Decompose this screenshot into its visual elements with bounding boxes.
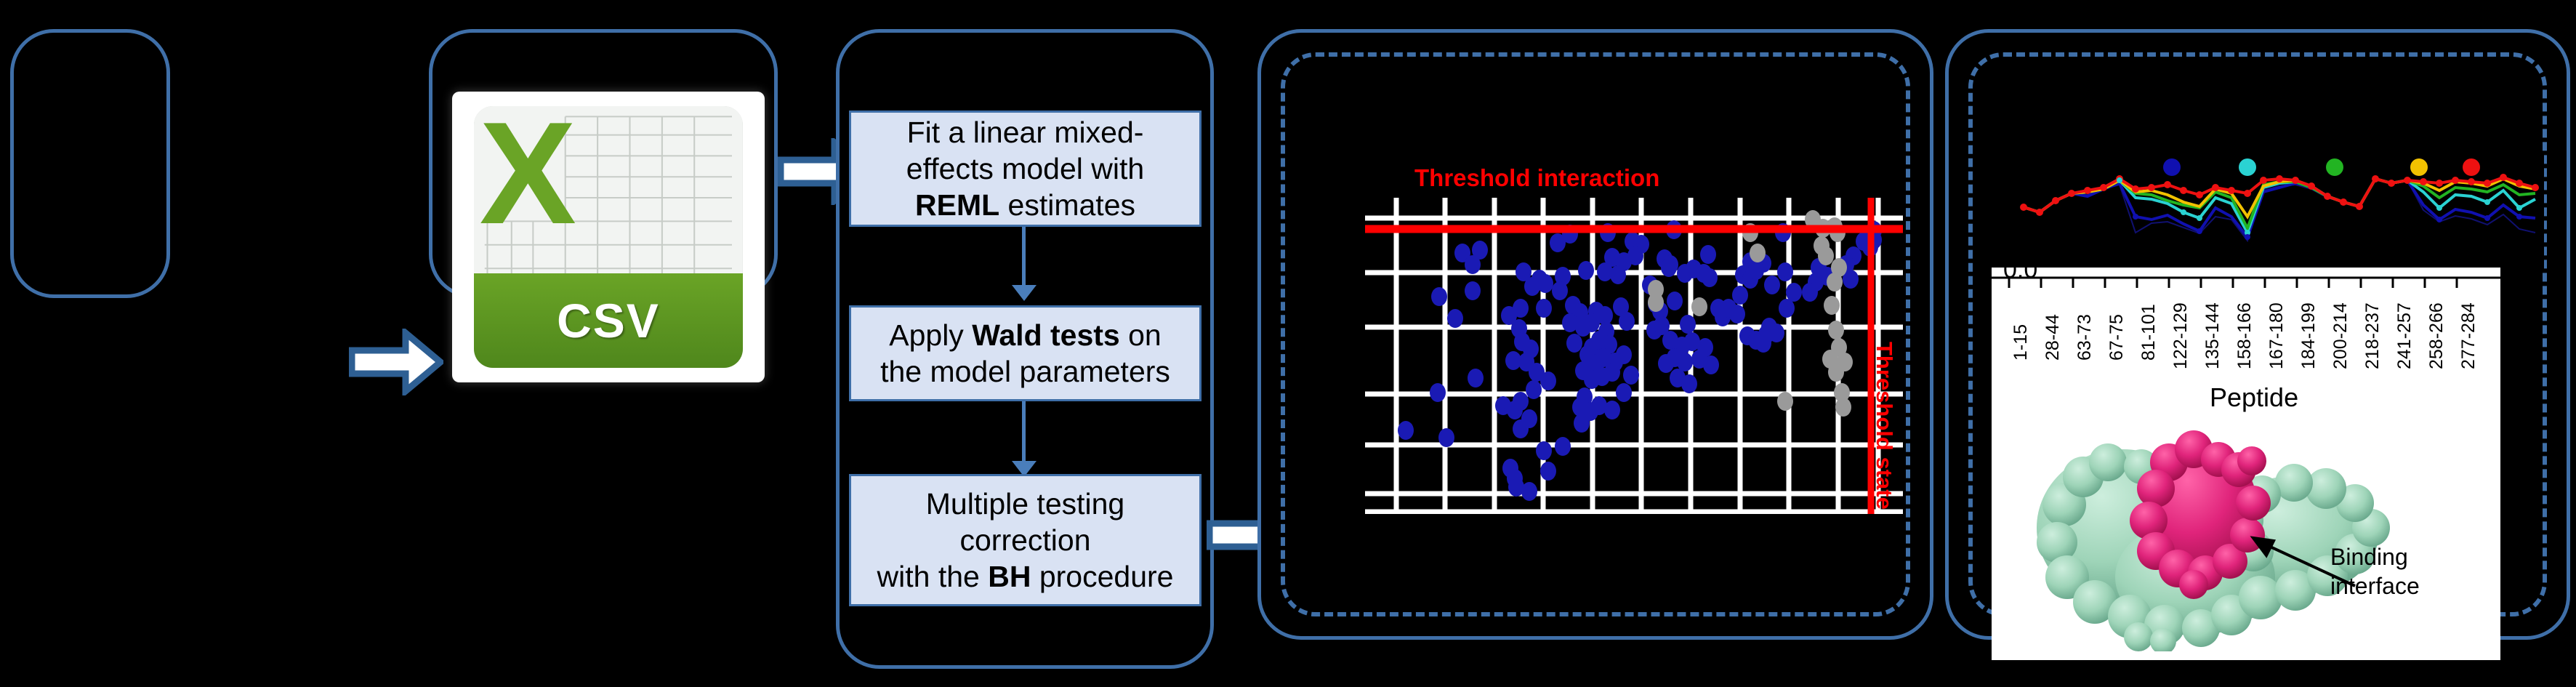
step-bh-box: Multiple testing correction with the BH … [849, 474, 1202, 606]
xtick-9: 184-199 [2298, 302, 2319, 369]
xtick-0: 1-15 [2011, 324, 2032, 361]
peptide-chart-svg [1992, 153, 2544, 269]
connector-wald-to-bh [1022, 401, 1026, 462]
xtick-7: 158-166 [2234, 302, 2255, 369]
xtick-5: 122-129 [2170, 302, 2191, 369]
step-model-text: Fit a linear mixed- effects model with R… [906, 114, 1144, 223]
step-bh-text: Multiple testing correction with the BH … [877, 486, 1174, 595]
xtick-14: 277-284 [2458, 302, 2479, 369]
step-model-box: Fit a linear mixed- effects model with R… [849, 111, 1202, 227]
results-figure-panel: 1-15 28-44 63-73 67-75 81-101 122-129 13… [1992, 268, 2500, 660]
xtick-1: 28-44 [2042, 314, 2064, 361]
step-wald-pre: Apply [889, 318, 972, 352]
step-wald-line2: the model parameters [880, 355, 1170, 388]
xtick-13: 258-266 [2426, 302, 2447, 369]
step-model-bold: REML [915, 188, 999, 222]
threshold-state-label: Threshold state [1871, 342, 1897, 510]
peptide-line-chart [1992, 153, 2544, 269]
step-bh-post: procedure [1031, 560, 1173, 593]
step-model-line1: Fit a linear mixed- [907, 116, 1144, 149]
step-bh-line2: correction [959, 523, 1090, 557]
step-wald-post: on [1120, 318, 1162, 352]
legend-dot-3 [2326, 158, 2343, 176]
xtick-11: 218-237 [2362, 302, 2383, 369]
protein-structure-image [2013, 419, 2420, 651]
csv-extension-band: CSV [474, 273, 743, 368]
connector-arrowhead-wald [1012, 285, 1037, 301]
legend-dot-2 [2239, 158, 2256, 176]
csv-icon-body: X CSV [474, 106, 743, 368]
peptide-axis-label: Peptide [2210, 382, 2298, 413]
peptide-axis-ticks [1992, 268, 2500, 297]
step-wald-bold: Wald tests [972, 318, 1120, 352]
binding-interface-line1: Binding [2330, 542, 2420, 571]
volcano-plot-svg [1365, 198, 1903, 514]
xtick-2: 63-73 [2074, 314, 2096, 361]
binding-interface-line2: interface [2330, 571, 2420, 600]
step-wald-box: Apply Wald tests on the model parameters [849, 305, 1202, 401]
input-panel [10, 29, 170, 298]
arrow-to-data [349, 329, 443, 395]
legend-dot-1 [2163, 158, 2181, 176]
binding-interface-annotation: Binding interface [2330, 542, 2420, 600]
csv-file-icon: X CSV [452, 92, 765, 382]
legend-dot-4 [2410, 158, 2428, 176]
step-model-line3: estimates [999, 188, 1135, 222]
xtick-12: 241-257 [2394, 302, 2415, 369]
step-bh-bold: BH [988, 560, 1031, 593]
xtick-6: 135-144 [2202, 302, 2223, 369]
volcano-plot [1365, 198, 1903, 514]
xtick-10: 200-214 [2330, 302, 2351, 369]
step-model-line2: effects model with [906, 152, 1144, 185]
xtick-3: 67-75 [2106, 314, 2128, 361]
threshold-interaction-label: Threshold interaction [1414, 164, 1659, 192]
step-bh-line1: Multiple testing [926, 487, 1124, 521]
step-wald-text: Apply Wald tests on the model parameters [880, 317, 1170, 390]
excel-x-icon: X [479, 106, 587, 237]
xtick-4: 81-101 [2138, 304, 2160, 361]
connector-model-to-wald [1022, 227, 1026, 286]
xtick-8: 167-180 [2266, 302, 2287, 369]
csv-extension-label: CSV [557, 293, 660, 348]
peptide-ytick-zero: 0.0 [2003, 256, 2037, 284]
legend-dot-5 [2463, 158, 2480, 176]
step-bh-pre: with the [877, 560, 989, 593]
